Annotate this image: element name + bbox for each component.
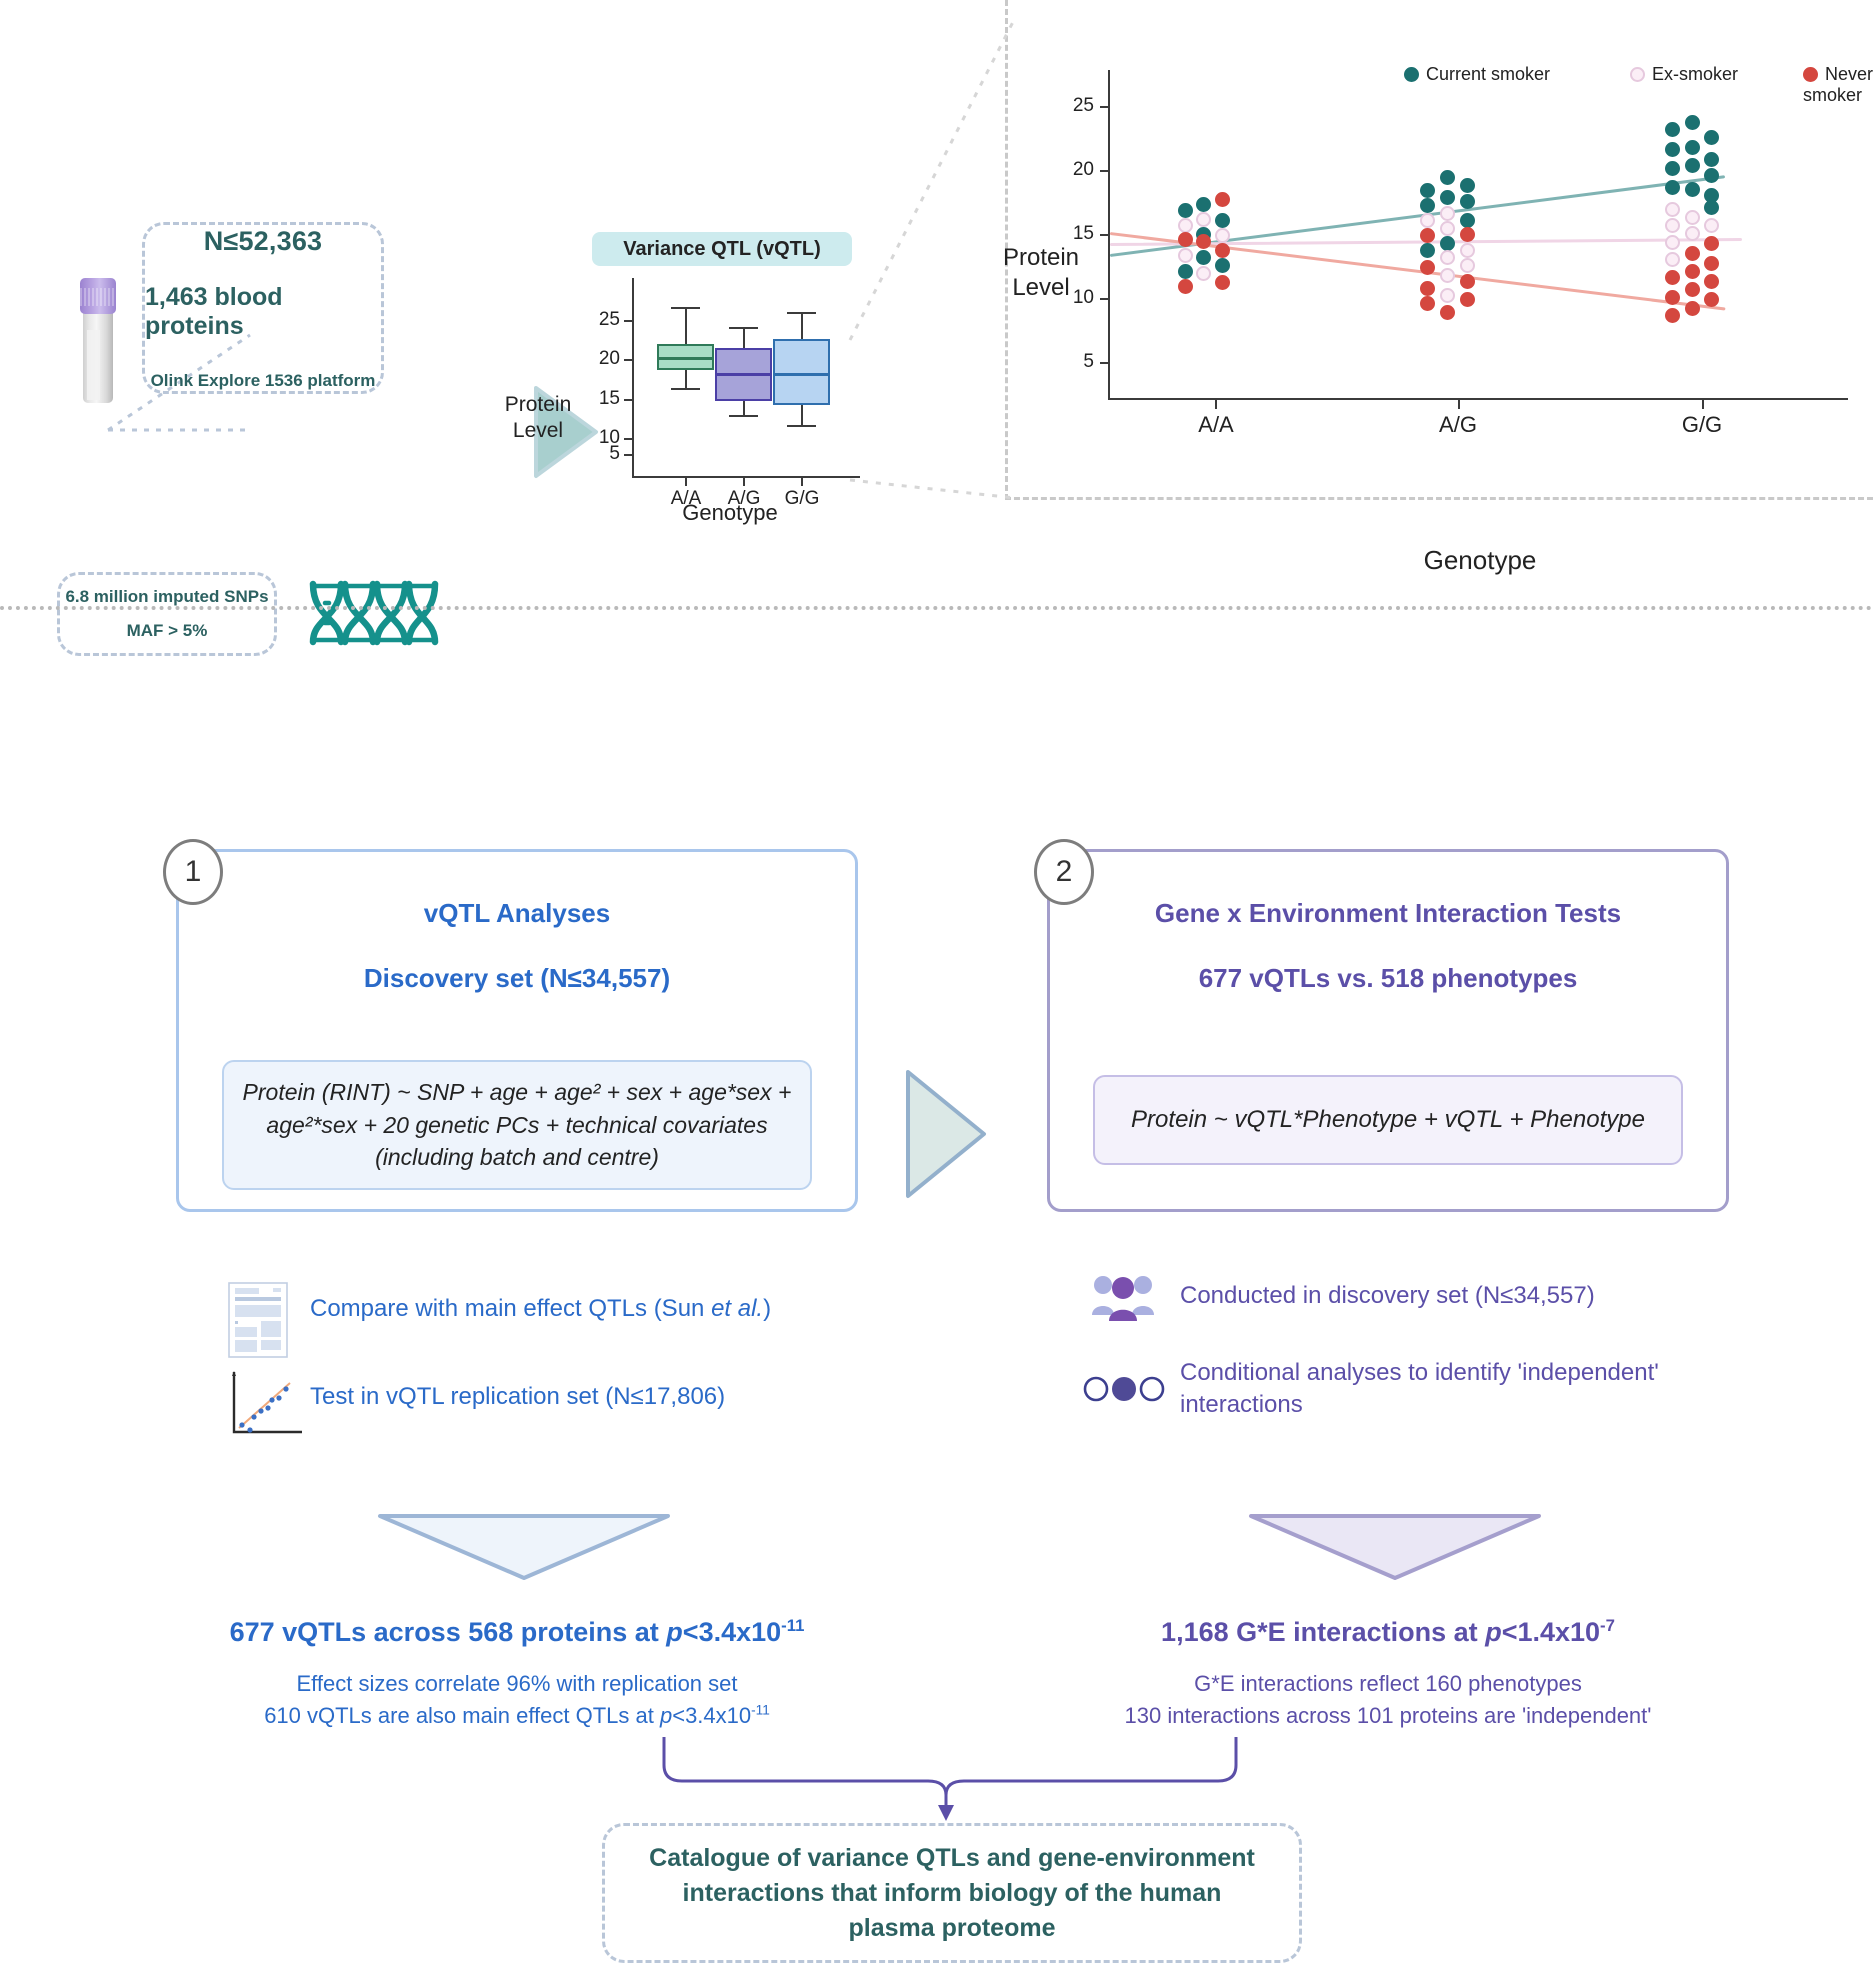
step-1-heading: vQTL Analyses (176, 898, 858, 929)
result-1-headline: 677 vQTLs across 568 proteins at p<3.4x1… (176, 1616, 858, 1648)
sc-xtick-AG: A/G (1418, 412, 1498, 438)
dna-helix-icon (305, 570, 440, 656)
step-1-bullet-2: Test in vQTL replication set (N≤17,806) (310, 1381, 870, 1413)
people-group-icon (1090, 1272, 1156, 1322)
sc-ytick-20: 20 (1058, 159, 1094, 181)
sc-ytick-15: 15 (1058, 223, 1094, 245)
scatter-plot: 25 20 15 10 5 (1100, 70, 1460, 410)
vqtl-xaxis-title: Genotype (600, 500, 860, 526)
sc-ytick-5: 5 (1058, 351, 1094, 373)
legend-swatch-never-smoker (1803, 67, 1818, 82)
step-1-formula-text: Protein (RINT) ~ SNP + age + age² + sex … (224, 1076, 810, 1174)
scatter-plot-icon (228, 1370, 306, 1436)
legend-ex-smoker: Ex-smoker (1630, 64, 1738, 85)
legend-swatch-ex-smoker (1630, 67, 1645, 82)
sc-xtick-AA: A/A (1176, 412, 1256, 438)
conclusion-text: Catalogue of variance QTLs and gene-envi… (605, 1841, 1299, 1946)
step-1-badge: 1 (163, 839, 223, 905)
conclusion-box: Catalogue of variance QTLs and gene-envi… (602, 1823, 1302, 1963)
step-2-heading: Gene x Environment Interaction Tests (1047, 898, 1729, 929)
sc-xaxis-title: Genotype (1180, 545, 1780, 576)
step-1-bullet-1: Compare with main effect QTLs (Sun et al… (310, 1293, 870, 1325)
result-1-subtext: Effect sizes correlate 96% with replicat… (176, 1668, 858, 1732)
three-circles-icon (1083, 1373, 1165, 1405)
vqtl-yaxis-title: ProteinLevel (498, 392, 578, 445)
ytick-5: 5 (590, 443, 620, 465)
step-1-subheading: Discovery set (N≤34,557) (176, 963, 858, 994)
sample-info-box: N≤52,363 1,463 blood proteins Olink Expl… (142, 222, 384, 394)
document-icon (228, 1282, 288, 1358)
merge-bracket (660, 1735, 1240, 1823)
legend-never-smoker: Never smoker (1803, 64, 1873, 106)
protein-count-label: 1,463 blood proteins (145, 283, 381, 341)
step-2-subheading: 677 vQTLs vs. 518 phenotypes (1047, 963, 1729, 994)
flow-arrow-down-left (374, 1508, 674, 1586)
step-2-formula-text: Protein ~ vQTL*Phenotype + vQTL + Phenot… (1131, 1103, 1645, 1137)
ytick-15: 15 (590, 388, 620, 410)
sc-yaxis-title: ProteinLevel (986, 243, 1096, 303)
snp-info-box: 6.8 million imputed SNPs MAF > 5% (57, 572, 277, 656)
vqtl-chart-title: Variance QTL (vQTL) (592, 232, 852, 266)
snp-count-label: 6.8 million imputed SNPs (65, 587, 268, 607)
platform-label: Olink Explore 1536 platform (151, 371, 376, 391)
sc-ytick-25: 25 (1058, 95, 1094, 117)
step-2-badge: 2 (1034, 839, 1094, 905)
section-divider (0, 606, 1873, 610)
step-2-formula-box: Protein ~ vQTL*Phenotype + vQTL + Phenot… (1093, 1075, 1683, 1165)
ytick-20: 20 (590, 348, 620, 370)
step-1-formula-box: Protein (RINT) ~ SNP + age + age² + sex … (222, 1060, 812, 1190)
flow-arrow-right-panels (898, 1064, 994, 1204)
step-2-bullet-1: Conducted in discovery set (N≤34,557) (1180, 1280, 1740, 1312)
vqtl-boxplot: 25 20 15 10 5 A/A A/G G/G (590, 278, 860, 488)
step-2-bullet-2: Conditional analyses to identify 'indepe… (1180, 1357, 1740, 1422)
result-2-subtext: G*E interactions reflect 160 phenotypes … (1047, 1668, 1729, 1732)
result-2-headline: 1,168 G*E interactions at p<1.4x10-7 (1047, 1616, 1729, 1648)
ytick-25: 25 (590, 309, 620, 331)
flow-arrow-down-right (1245, 1508, 1545, 1586)
maf-label: MAF > 5% (127, 621, 208, 641)
sample-n-label: N≤52,363 (204, 226, 323, 257)
sc-xtick-GG: G/G (1662, 412, 1742, 438)
